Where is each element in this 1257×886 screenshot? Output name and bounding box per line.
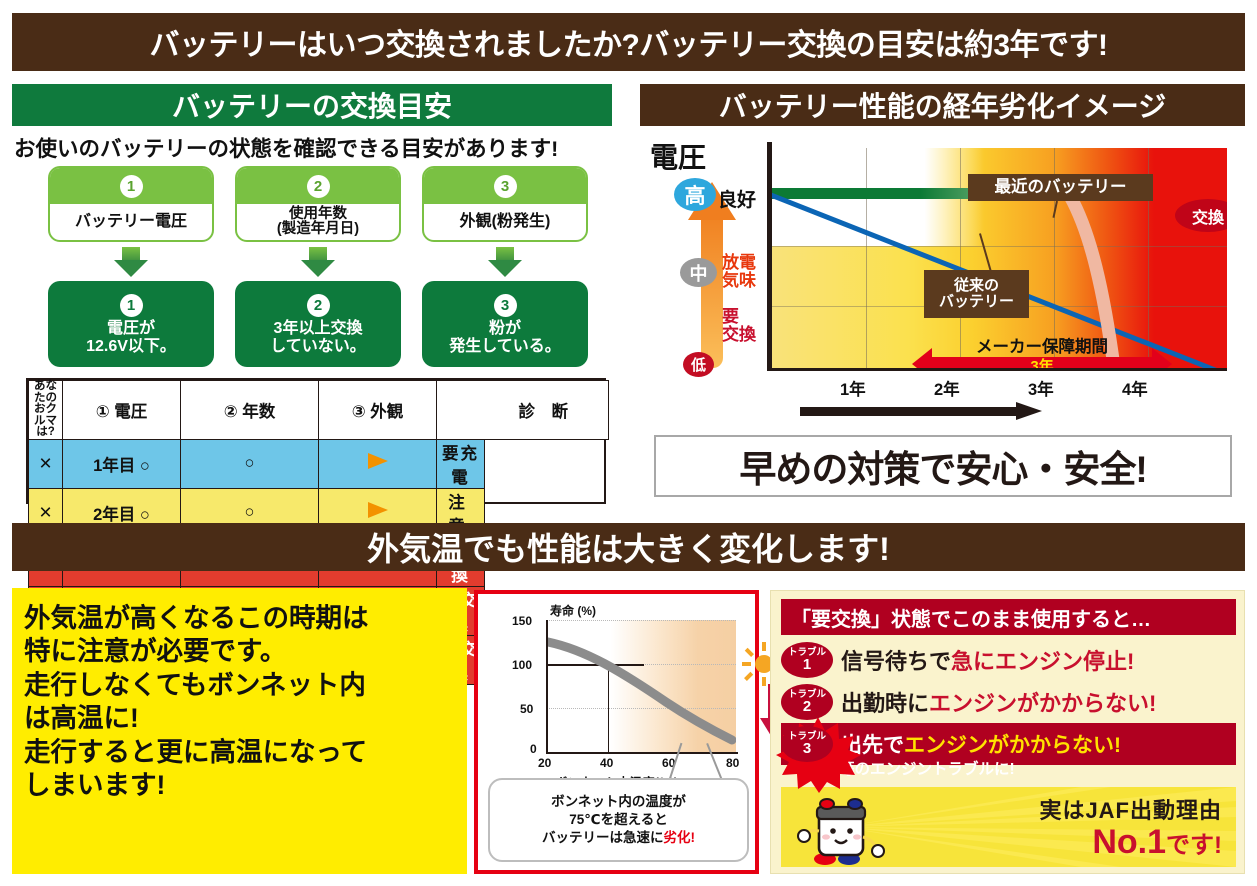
check-top-box-3: 3 外観(粉発生) [422,166,588,242]
check-column-2: 2 使用年数 (製造年月日) 2 3年以上交換 していない。 [235,166,401,366]
warning-line-4: は高温に! [24,702,455,735]
trouble-badge-number-3: 3 [803,741,811,756]
check-top-box-2: 2 使用年数 (製造年月日) [235,166,401,242]
warranty-label: メーカー保障期間 [912,333,1172,357]
warning-text-panel: 外気温が高くなるこの時期は 特に注意が必要です。 走行しなくてもボンネット内 は… [12,588,467,874]
trouble-subtext: 等のエンジントラブルに! [839,757,1015,779]
temp-x-tick-80: 80 [726,756,739,770]
arrow-right-icon [368,453,388,469]
number-circle-icon: 1 [120,294,143,317]
temp-note-line-1: ボンネット内の温度が [551,793,686,811]
jaf-line-1: 実はJAF出動理由 [1039,793,1222,825]
x-tick-1: 1年 [840,376,866,400]
temp-y-tick-100: 100 [512,658,749,672]
label-legacy-2: バッテリー [939,294,1014,311]
check-bottom-box-3: 3 粉が 発生している。 [422,281,588,367]
trouble-text-1: 信号待ちで急にエンジン停止! [841,644,1134,676]
warning-line-1: 外気温が高くなるこの時期は [24,602,455,635]
arrow-right-icon [368,502,388,518]
check-top-box-1: 1 バッテリー電圧 [48,166,214,242]
temp-note-line-2: 75℃を超えると [569,811,667,829]
section-header-left-label: バッテリーの交換目安 [172,85,452,125]
check-bottom-box-2: 2 3年以上交換 していない。 [235,281,401,367]
bottom-banner: 外気温でも性能は大きく変化します! [12,523,1245,571]
cell-appearance: ○ [181,439,319,488]
battery-mascot-icon [797,793,889,865]
cell-years-text: 1年目 ○ [93,457,150,475]
check-top-body-3: 外観(粉発生) [424,204,586,240]
temp-y-tick-0: 0 [530,742,749,756]
check-top-header-1: 1 [50,168,212,204]
x-tick-2: 2年 [934,376,960,400]
trouble-item-1: トラブル 1 信号待ちで急にエンジン停止! [781,639,1134,681]
cell-voltage: ✕ [29,439,63,488]
time-axis-arrow-icon [800,402,1050,420]
trouble-panel: 「要交換」状態でこのまま使用すると… トラブル 1 信号待ちで急にエンジン停止!… [770,590,1245,874]
check-top-header-3: 3 [424,168,586,204]
label-legacy-1: 従来の [954,278,999,295]
check-bottom-line-3b: 発生している。 [449,338,561,356]
x-tick-4: 4年 [1122,376,1148,400]
trouble-badge-number-2: 2 [803,699,811,714]
temp-note-line-3: バッテリーは急速に劣化! [542,829,695,847]
check-column-1: 1 バッテリー電圧 1 電圧が 12.6V以下。 [48,166,214,366]
trouble-badge-icon: トラブル 2 [781,684,833,720]
level-word-discharge-1: 放電 [722,254,756,272]
number-circle-icon: 2 [307,294,330,317]
infographic-page: バッテリーはいつ交換されましたか?バッテリー交換の目安は約3年です! バッテリー… [0,0,1257,886]
warning-line-3: 走行しなくてもボンネット内 [24,669,455,702]
check-top-label-2b: (製造年月日) [277,222,359,237]
jaf-no1: No.1 [1092,823,1166,861]
check-top-label-1a: バッテリー電圧 [75,214,187,231]
jaf-desu: です! [1166,832,1222,859]
table-header-years: ② 年数 [181,381,319,440]
temp-x-tick-20: 20 [538,756,551,770]
trouble-badge-icon: トラブル 1 [781,642,833,678]
level-word-discharge-2: 気味 [722,272,756,290]
temp-note-line-3-pre: バッテリーは急速に [542,830,664,845]
trouble-panel-header-text: 「要交換」状態でこのまま使用すると… [791,603,1151,632]
temp-x-tick-40: 40 [600,756,613,770]
check-top-header-2: 2 [237,168,399,204]
cell-diagnosis: 要充電 [437,439,485,488]
trouble-badge-number-1: 1 [803,657,811,672]
temp-y-tick-150: 150 [512,614,749,628]
check-top-label-3a: 外観(粉発生) [460,214,551,231]
section-header-right-label: バッテリー性能の経年劣化イメージ [719,85,1166,125]
table-header-row: あなたのおクルマは? ① 電圧 ② 年数 ③ 外観 診 断 [29,381,609,440]
main-header-title: バッテリーはいつ交換されましたか?バッテリー交換の目安は約3年です! [150,20,1108,64]
temperature-chart-card: 寿命 (%) [474,590,759,874]
arrow-down-icon [114,247,148,277]
warning-line-5: 走行すると更に高温になって [24,736,455,769]
jaf-text: 実はJAF出動理由 No.1です! [1039,793,1222,861]
jaf-banner: 実はJAF出動理由 No.1です! [781,787,1236,867]
trouble-text-2-pre: 出勤時に [841,691,929,716]
check-column-3: 3 外観(粉発生) 3 粉が 発生している。 [422,166,588,366]
trouble-text-1-highlight: 急にエンジン停止! [951,649,1134,674]
table-row: ✕ 1年目 ○ ○ 要充電 [29,439,609,488]
left-panel-lead: お使いのバッテリーの状態を確認できる目安があります! [14,132,610,163]
section-header-right: バッテリー性能の経年劣化イメージ [640,84,1245,126]
label-legacy-battery: 従来の バッテリー [924,270,1029,318]
temp-y-tick-50: 50 [520,702,749,716]
table-header-appearance: ③ 外観 [319,381,437,440]
check-bottom-line-3a: 粉が [449,320,561,338]
level-word-replace-2: 交換 [722,326,756,344]
arrow-down-icon [301,247,335,277]
check-bottom-lines-2: 3年以上交換 していない。 [270,320,366,356]
cell-years: 1年目 ○ [63,439,181,488]
level-word-replace-1: 要 [722,308,756,326]
warning-line-2: 特に注意が必要です。 [24,635,455,668]
trouble-text-2-highlight: エンジンがかからない! [929,691,1156,716]
level-word-good: 良好 [718,185,756,212]
temp-life-curve [546,620,736,752]
level-pill-high: 高 [674,178,716,211]
check-top-body-1: バッテリー電圧 [50,204,212,240]
trouble-text-1-pre: 信号待ちで [841,649,951,674]
trouble-text-3: 出先でエンジンがかからない! [841,729,1121,759]
table-header-voltage: ① 電圧 [63,381,181,440]
trouble-text-2: 出勤時にエンジンがかからない! [841,686,1156,718]
check-top-body-2: 使用年数 (製造年月日) [237,204,399,240]
warranty-years: 3年 [912,355,1172,368]
check-bottom-box-1: 1 電圧が 12.6V以下。 [48,281,214,367]
number-circle-icon: 3 [494,294,517,317]
section-header-left: バッテリーの交換目安 [12,84,612,126]
bottom-banner-title: 外気温でも性能は大きく変化します! [367,524,890,570]
main-header: バッテリーはいつ交換されましたか?バッテリー交換の目安は約3年です! [12,13,1245,71]
check-bottom-line-1b: 12.6V以下。 [86,338,176,356]
table-side-label-text: あなたのおクルマは? [29,381,62,439]
number-circle-icon: 2 [307,175,330,198]
cell-years-text: 2年目 ○ [93,506,150,524]
check-bottom-lines-1: 電圧が 12.6V以下。 [86,320,176,356]
table-header-spacer [437,381,485,440]
arrow-down-icon [488,247,522,277]
check-bottom-lines-3: 粉が 発生している。 [449,320,561,356]
cell-arrow [319,439,437,488]
number-circle-icon: 3 [494,175,517,198]
warning-line-6: しまいます! [24,769,455,802]
level-word-discharge: 放電 気味 [722,254,756,290]
level-pill-low: 低 [683,352,714,377]
voltage-axis-title: 電圧 [650,136,706,176]
safety-message: 早めの対策で安心・安全! [739,439,1146,493]
left-panel: お使いのバッテリーの状態を確認できる目安があります! 1 バッテリー電圧 1 電… [12,130,612,512]
temp-chart-plot [546,620,736,752]
jaf-line-2: No.1です! [1039,825,1222,861]
table-header-diagnosis: 診 断 [485,381,609,440]
check-flow: 1 バッテリー電圧 1 電圧が 12.6V以下。 [48,166,588,366]
check-bottom-line-2a: 3年以上交換 [270,320,366,338]
safety-message-box: 早めの対策で安心・安全! [654,435,1232,497]
level-pill-mid: 中 [680,258,717,287]
level-word-replace: 要 交換 [722,308,756,344]
trouble-text-3-highlight: エンジンがかからない! [904,734,1121,757]
warranty-period-annotation: メーカー保障期間 3年 [912,333,1172,368]
check-bottom-line-1a: 電圧が [86,320,176,338]
table-side-label: あなたのおクルマは? [29,381,63,440]
trouble-badge-icon: トラブル 3 [781,726,833,762]
label-recent-battery: 最近のバッテリー [968,174,1153,201]
number-circle-icon: 1 [120,175,143,198]
x-tick-3: 3年 [1028,376,1054,400]
temp-note-line-3-highlight: 劣化! [664,830,696,845]
check-bottom-line-2b: していない。 [270,338,366,356]
check-top-label-2a: 使用年数 [289,207,347,222]
degradation-chart-plot: 最近のバッテリー 従来の バッテリー 交換 寿命は突然 訪れます!! [772,148,1227,368]
temperature-note: ボンネット内の温度が 75℃を超えると バッテリーは急速に劣化! [488,778,749,862]
trouble-panel-header: 「要交換」状態でこのまま使用すると… [781,599,1236,635]
diagnosis-table: あなたのおクルマは? ① 電圧 ② 年数 ③ 外観 診 断 ✕ 1年目 ○ ○ [26,378,606,504]
right-panel: 電圧 高 中 低 良好 放電 気味 要 交換 [640,130,1245,512]
